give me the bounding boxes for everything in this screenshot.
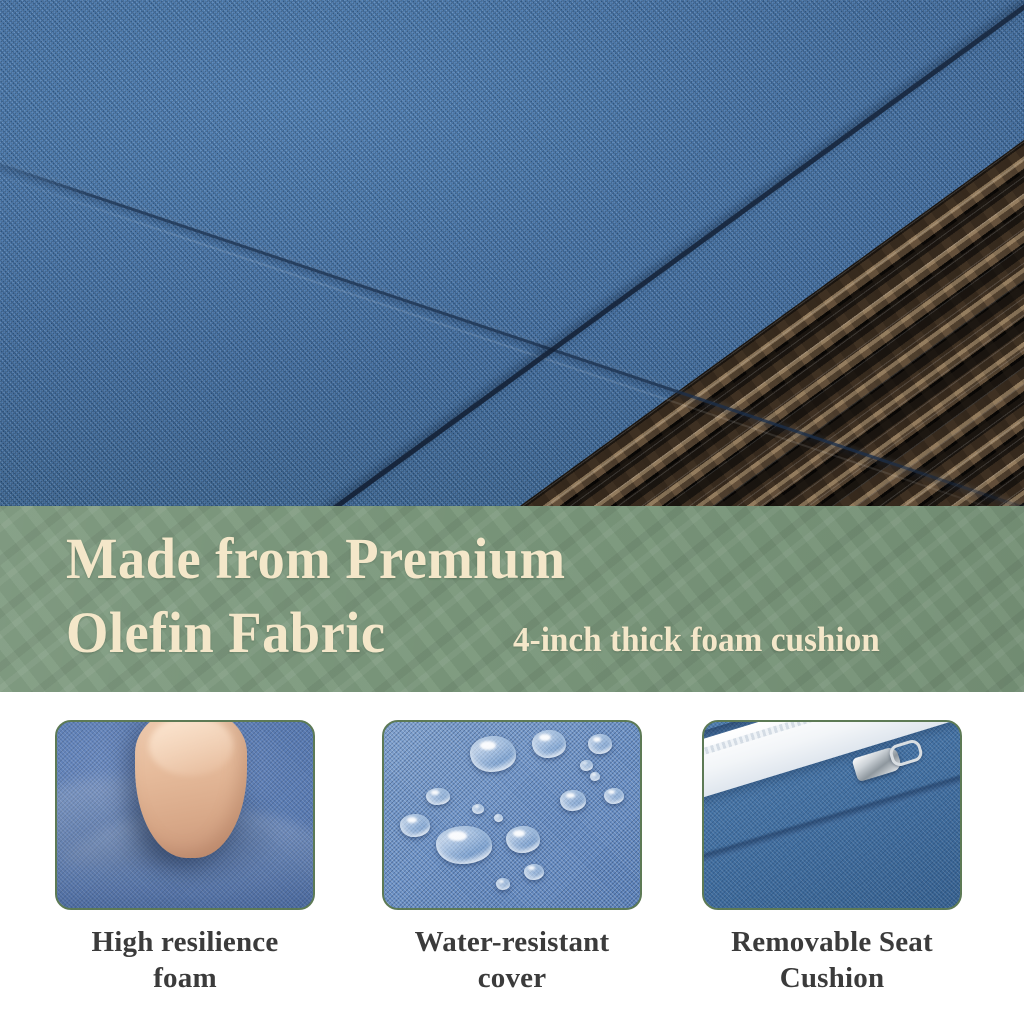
caption-line-2: cover (478, 962, 547, 994)
water-drop-icon (400, 814, 430, 837)
feature-caption-removable-seat-cushion: Removable Seat Cushion (682, 924, 982, 996)
feature-card-removable-seat-cushion (702, 720, 962, 910)
caption-line-1: Removable Seat (731, 926, 933, 958)
feature-card-water-resistant-cover (382, 720, 642, 910)
caption-line-2: foam (153, 962, 217, 994)
caption-line-2: Cushion (780, 962, 885, 994)
water-drop-icon (590, 772, 600, 781)
water-drop-icon (472, 804, 484, 814)
headline-banner: Made from Premium Olefin Fabric 4-inch t… (0, 506, 1024, 692)
banner-headline: Made from Premium Olefin Fabric (66, 522, 566, 670)
caption-line-1: Water-resistant (415, 926, 610, 958)
water-drop-icon (604, 788, 624, 804)
water-drop-icon (496, 878, 510, 890)
zipper-image (704, 722, 960, 908)
banner-content: Made from Premium Olefin Fabric 4-inch t… (0, 506, 1024, 692)
water-drop-icon (494, 814, 503, 822)
water-drop-icon (506, 826, 540, 853)
headline-line-2: Olefin Fabric (66, 596, 566, 670)
feature-caption-high-resilience-foam: High resilience foam (35, 924, 335, 996)
feature-list: High resilience foam (0, 692, 1024, 1024)
water-drop-icon (426, 788, 450, 805)
caption-line-1: High resilience (92, 926, 279, 958)
water-drop-icon (524, 864, 544, 880)
water-drop-icon (470, 736, 516, 772)
water-drop-icon (588, 734, 612, 754)
feature-card-high-resilience-foam (55, 720, 315, 910)
hero-product-photo (0, 0, 1024, 506)
water-drop-icon (436, 826, 492, 864)
headline-line-1: Made from Premium (66, 526, 566, 591)
water-droplets-image (384, 722, 640, 908)
water-drop-icon (560, 790, 586, 811)
foam-press-image (57, 722, 313, 908)
feature-caption-water-resistant-cover: Water-resistant cover (362, 924, 662, 996)
zipper-ring-icon (887, 738, 924, 768)
banner-subline: 4-inch thick foam cushion (513, 618, 880, 662)
water-drop-icon (580, 760, 593, 771)
water-drop-icon (532, 730, 566, 758)
product-feature-infographic: Made from Premium Olefin Fabric 4-inch t… (0, 0, 1024, 1024)
